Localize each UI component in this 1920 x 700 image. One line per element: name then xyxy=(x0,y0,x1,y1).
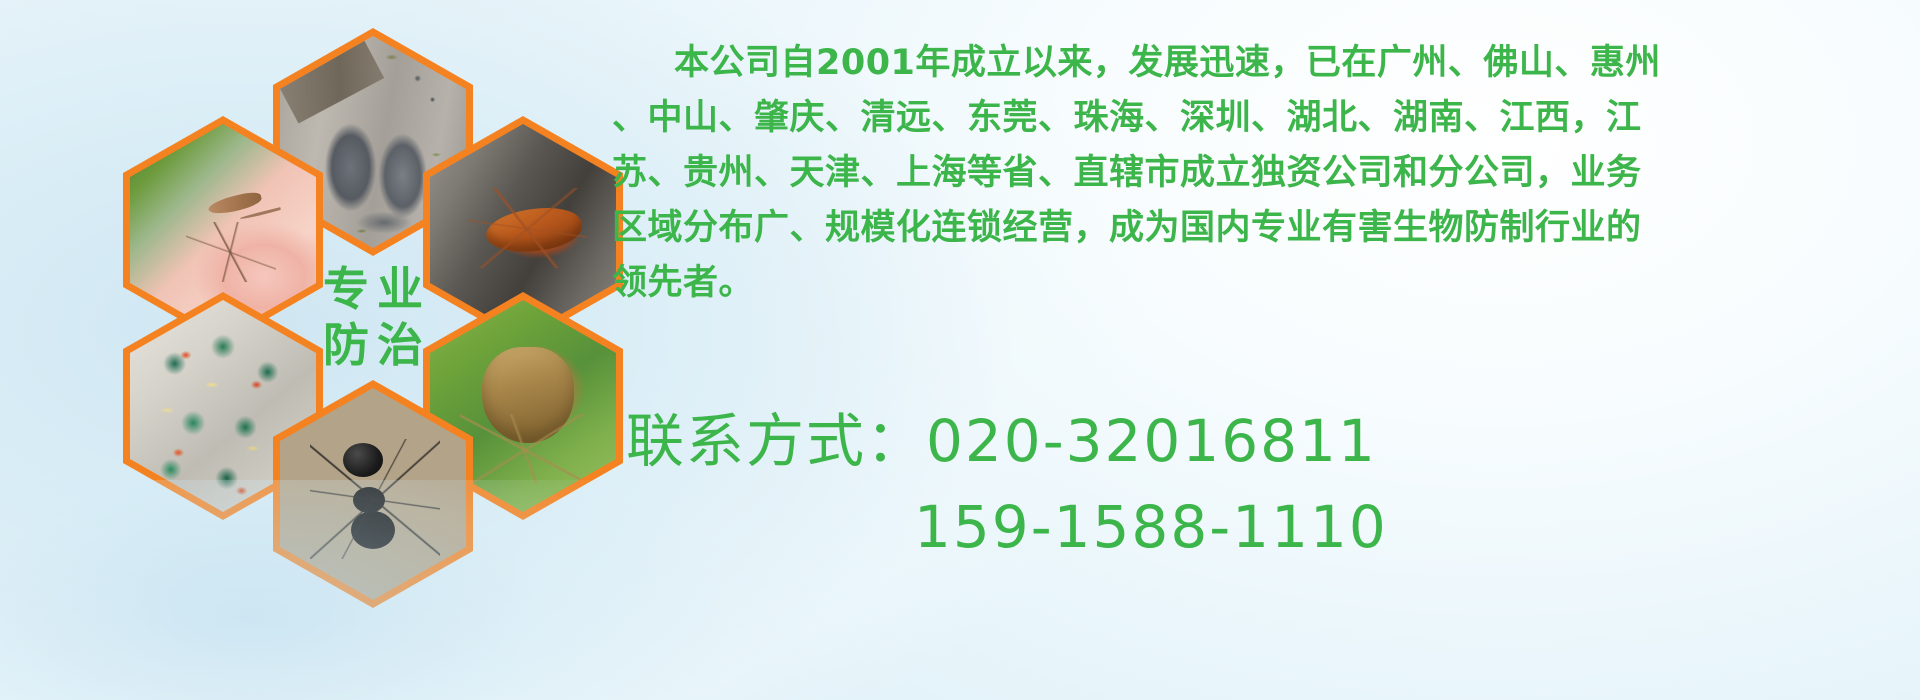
description-line: 、中山、肇庆、清远、东莞、珠海、深圳、湖北、湖南、江西，江 xyxy=(612,91,1904,146)
contact-phone-primary[interactable]: 联系方式：020-32016811 xyxy=(626,398,1388,484)
hexagon-photo-cluster: 专业 防治 xyxy=(95,0,595,570)
slogan-professional-control: 专业 防治 xyxy=(273,204,473,432)
description-line: 领先者。 xyxy=(612,256,1904,311)
pest-control-banner: 专业 防治 本公司自2001年成立以来，发展迅速，已在广州、佛山、惠州 、中山、… xyxy=(0,0,1920,700)
company-description: 本公司自2001年成立以来，发展迅速，已在广州、佛山、惠州 、中山、肇庆、清远、… xyxy=(612,36,1904,311)
contact-phone-secondary[interactable]: 159-1588-1110 xyxy=(626,484,1388,570)
description-line: 苏、贵州、天津、上海等省、直辖市成立独资公司和分公司，业务 xyxy=(612,146,1904,201)
description-line: 本公司自2001年成立以来，发展迅速，已在广州、佛山、惠州 xyxy=(612,36,1904,91)
slogan-line-2: 防治 xyxy=(315,321,431,371)
description-line: 区域分布广、规模化连锁经营，成为国内专业有害生物防制行业的 xyxy=(612,201,1904,256)
contact-info: 联系方式：020-32016811 159-1588-1110 xyxy=(626,398,1388,570)
slogan-line-1: 专业 xyxy=(315,265,431,315)
